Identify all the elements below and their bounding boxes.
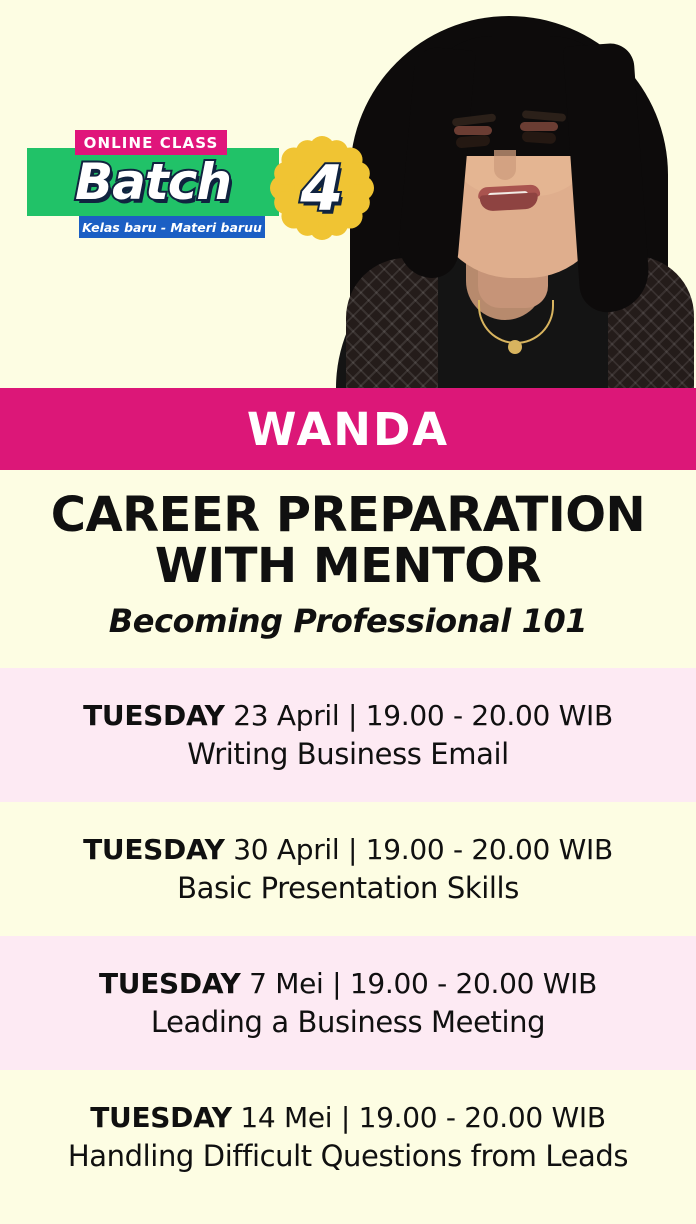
schedule-datetime: TUESDAY 7 Mei | 19.00 - 20.00 WIB (99, 967, 597, 1000)
schedule-day: TUESDAY (90, 1101, 232, 1134)
schedule-separator: | (341, 1101, 350, 1134)
schedule-topic: Handling Difficult Questions from Leads (68, 1139, 628, 1173)
speaker-name: WANDA (247, 403, 449, 456)
title-block: CAREER PREPARATION WITH MENTOR Becoming … (0, 470, 696, 668)
speaker-name-banner: WANDA (0, 388, 696, 470)
eyeshadow-right (520, 122, 558, 131)
schedule-day: TUESDAY (83, 833, 225, 866)
schedule-row: TUESDAY 23 April | 19.00 - 20.00 WIBWrit… (0, 668, 696, 802)
batch-wordmark: Batch (27, 148, 279, 216)
schedule-datetime: TUESDAY 14 Mei | 19.00 - 20.00 WIB (90, 1101, 606, 1134)
promo-poster: ONLINE CLASS Batch Kelas baru - Materi b… (0, 0, 696, 1224)
logo-tagline: Kelas baru - Materi baruu (79, 216, 265, 238)
title-subtitle: Becoming Professional 101 (0, 602, 696, 640)
title-line-1: CAREER PREPARATION (0, 490, 696, 541)
schedule-date: 7 Mei (241, 967, 333, 1000)
title-line-2: WITH MENTOR (0, 541, 696, 592)
schedule-date: 14 Mei (232, 1101, 341, 1134)
title-heading: CAREER PREPARATION WITH MENTOR (0, 490, 696, 593)
schedule-separator: | (348, 699, 357, 732)
batch-number: 4 (270, 136, 374, 240)
schedule-topic: Basic Presentation Skills (177, 871, 519, 905)
schedule-list: TUESDAY 23 April | 19.00 - 20.00 WIBWrit… (0, 668, 696, 1224)
eyeshadow-left (454, 126, 492, 135)
schedule-time: 19.00 - 20.00 WIB (357, 833, 613, 866)
schedule-row: TUESDAY 14 Mei | 19.00 - 20.00 WIBHandli… (0, 1070, 696, 1204)
schedule-time: 19.00 - 20.00 WIB (350, 1101, 606, 1134)
schedule-time: 19.00 - 20.00 WIB (357, 699, 613, 732)
schedule-row: TUESDAY 30 April | 19.00 - 20.00 WIBBasi… (0, 802, 696, 936)
hero-section: ONLINE CLASS Batch Kelas baru - Materi b… (0, 0, 696, 388)
schedule-topic: Leading a Business Meeting (151, 1005, 545, 1039)
batch-logo: ONLINE CLASS Batch Kelas baru - Materi b… (27, 130, 347, 245)
schedule-separator: | (332, 967, 341, 1000)
necklace-pendant (508, 340, 522, 354)
eye-right (522, 131, 557, 144)
schedule-separator: | (348, 833, 357, 866)
schedule-day: TUESDAY (83, 699, 225, 732)
schedule-date: 23 April (225, 699, 348, 732)
schedule-datetime: TUESDAY 30 April | 19.00 - 20.00 WIB (83, 833, 613, 866)
schedule-topic: Writing Business Email (187, 737, 509, 771)
schedule-row: TUESDAY 7 Mei | 19.00 - 20.00 WIBLeading… (0, 936, 696, 1070)
schedule-date: 30 April (225, 833, 348, 866)
schedule-time: 19.00 - 20.00 WIB (341, 967, 597, 1000)
schedule-datetime: TUESDAY 23 April | 19.00 - 20.00 WIB (83, 699, 613, 732)
schedule-day: TUESDAY (99, 967, 241, 1000)
nose (494, 150, 516, 180)
